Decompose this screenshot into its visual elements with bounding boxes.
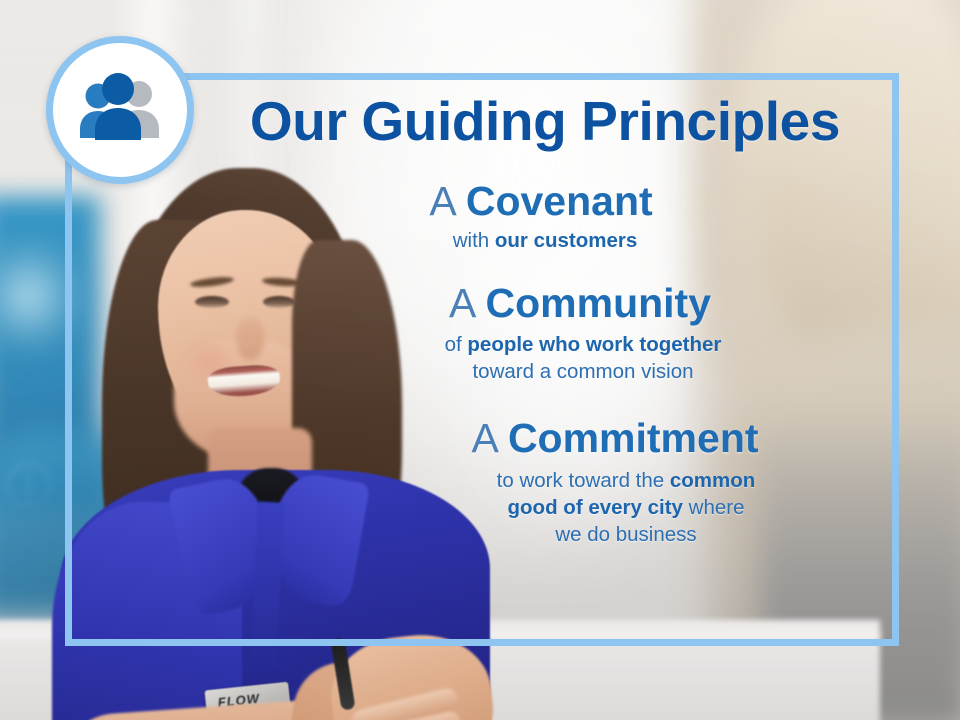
people-group-icon [72,72,168,148]
principle-body-line-3: we do business [367,521,885,548]
principle-keyword: Commitment [508,415,759,461]
principle-body-line-2: toward a common vision [281,358,885,385]
principle-body-emphasis: common [670,469,755,492]
principle-keyword: Covenant [466,178,653,224]
principle-body-lead: with [453,229,495,252]
principle-keyword: Community [486,280,712,326]
principle-body-line-1: to work toward the common [367,467,885,494]
principle-article: A [471,415,496,461]
principle-heading: A Community [215,280,885,327]
principles-list: A Covenant with our customers A Communit… [215,178,885,552]
principle-body-tail: where [683,496,745,519]
principle-body-emphasis: our customers [495,229,637,252]
principle-body-lead: of [445,333,468,356]
guiding-principles-banner: FLOW AUTOMOTIVE FLOW [0,0,960,720]
principle-heading: A Commitment [215,415,885,462]
principle-body-emphasis: people who work together [467,333,721,356]
principle-body-line-1: of people who work together [281,331,885,358]
principle-body-line-2: good of every city where [367,494,885,521]
principle-body: to work toward the common good of every … [215,467,885,548]
principle-article: A [429,178,454,224]
principle-heading: A Covenant [215,178,885,225]
principle-body-lead: to work toward the [497,469,670,492]
principle-body: with our customers [215,227,885,254]
principle-community: A Community of people who work together … [215,280,885,385]
page-title: Our Guiding Principles [215,93,875,149]
principle-article: A [449,280,474,326]
principle-body-emphasis-2: good of every city [508,496,683,519]
principle-body: of people who work together toward a com… [215,331,885,385]
principle-commitment: A Commitment to work toward the common g… [215,415,885,549]
people-group-badge [46,36,194,184]
principle-covenant: A Covenant with our customers [215,178,885,254]
